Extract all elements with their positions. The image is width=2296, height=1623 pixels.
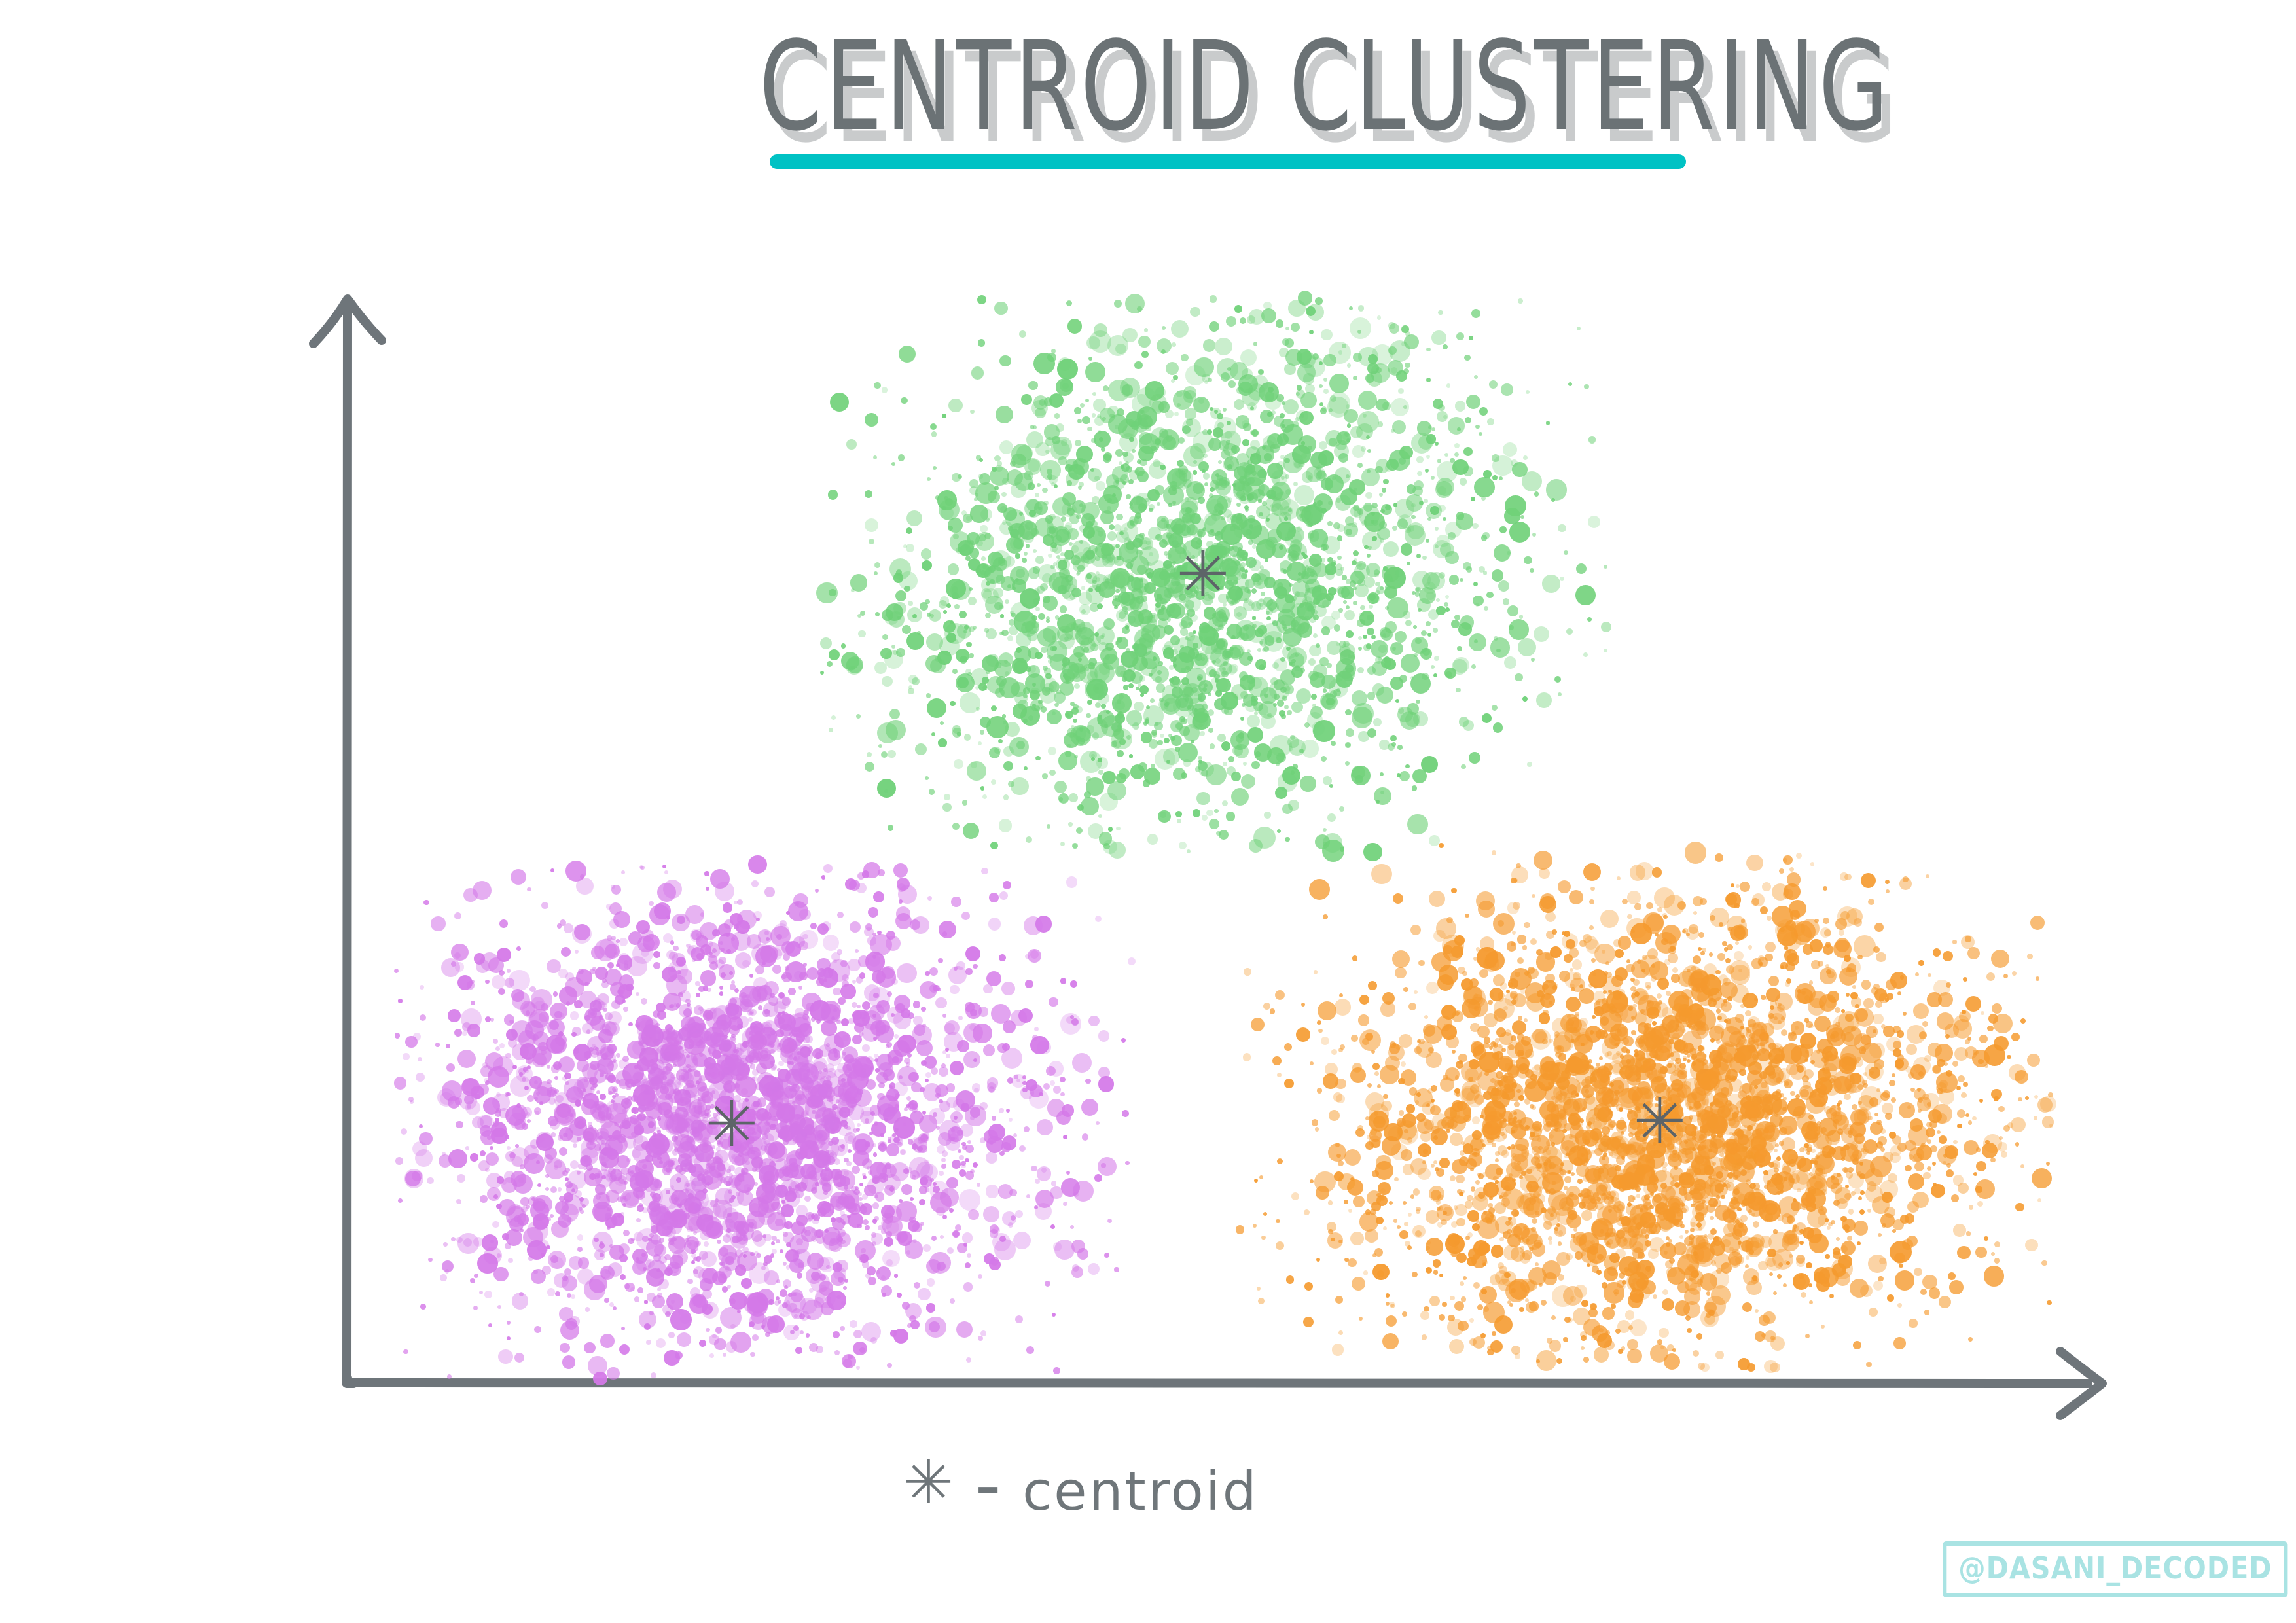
centroid-marker-purple: ✳ [706,1093,758,1156]
centroid-marker-green: ✳ [1177,543,1229,606]
watermark: @DASANI_DECODED [1943,1541,2288,1597]
centroid-star-icon: ✳ [903,1453,954,1513]
cluster-orange [0,0,2296,1623]
legend-label: centroid [1022,1463,1259,1522]
chart-legend: ✳ – centroid [903,1450,1259,1535]
legend-dash: – [976,1463,1000,1511]
scatter-plot-area: ✳ ✳ ✳ [0,0,2296,1623]
chart-canvas: CENTROID CLUSTERING CENTROID CLUSTERING … [0,0,2296,1623]
centroid-marker-orange: ✳ [1634,1090,1686,1153]
